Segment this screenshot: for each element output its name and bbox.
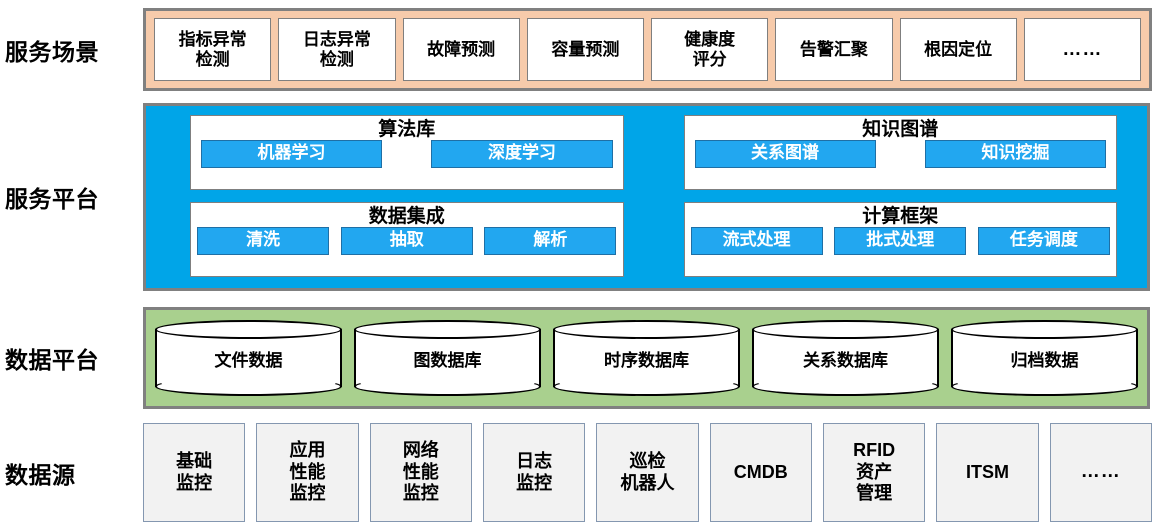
row-label-data-platform: 数据平台 bbox=[0, 307, 140, 409]
module-card-algorithm-library[interactable]: 算法库 机器学习 深度学习 bbox=[190, 115, 624, 190]
database-label-relational-database: 关系数据库 bbox=[752, 320, 939, 396]
row-label-data-source: 数据源 bbox=[0, 423, 140, 522]
source-box-log-monitoring[interactable]: 日志 监控 bbox=[483, 423, 585, 522]
source-box-infrastructure-monitoring[interactable]: 基础 监控 bbox=[143, 423, 245, 522]
source-box-more[interactable]: …… bbox=[1050, 423, 1152, 522]
database-cylinder-file-data[interactable]: 文件数据 bbox=[155, 320, 342, 396]
scenario-box-more[interactable]: …… bbox=[1024, 18, 1141, 81]
database-cylinder-archive-data[interactable]: 归档数据 bbox=[951, 320, 1138, 396]
row-label-service-scenario: 服务场景 bbox=[0, 8, 140, 91]
database-label-graph-database: 图数据库 bbox=[354, 320, 541, 396]
module-card-data-integration[interactable]: 数据集成 清洗 抽取 解析 bbox=[190, 202, 624, 277]
source-box-itsm[interactable]: ITSM bbox=[936, 423, 1038, 522]
chip-machine-learning[interactable]: 机器学习 bbox=[201, 140, 382, 168]
scenario-box-fault-prediction[interactable]: 故障预测 bbox=[403, 18, 520, 81]
scenario-box-capacity-prediction[interactable]: 容量预测 bbox=[527, 18, 644, 81]
scenario-box-root-cause-location[interactable]: 根因定位 bbox=[900, 18, 1017, 81]
database-cylinder-graph-database[interactable]: 图数据库 bbox=[354, 320, 541, 396]
module-title-knowledge-graph: 知识图谱 bbox=[862, 119, 938, 141]
source-box-network-performance-monitoring[interactable]: 网络 性能 监控 bbox=[370, 423, 472, 522]
database-label-file-data: 文件数据 bbox=[155, 320, 342, 396]
chip-relation-graph[interactable]: 关系图谱 bbox=[695, 140, 876, 168]
chip-cleansing[interactable]: 清洗 bbox=[197, 227, 329, 255]
database-cylinder-timeseries-database[interactable]: 时序数据库 bbox=[553, 320, 740, 396]
scenario-box-health-score[interactable]: 健康度 评分 bbox=[651, 18, 768, 81]
source-box-application-performance-monitoring[interactable]: 应用 性能 监控 bbox=[256, 423, 358, 522]
module-card-computing-framework[interactable]: 计算框架 流式处理 批式处理 任务调度 bbox=[684, 202, 1118, 277]
database-cylinder-relational-database[interactable]: 关系数据库 bbox=[752, 320, 939, 396]
module-title-computing-framework: 计算框架 bbox=[862, 206, 938, 228]
chip-parsing[interactable]: 解析 bbox=[484, 227, 616, 255]
scenario-box-log-anomaly-detection[interactable]: 日志异常 检测 bbox=[278, 18, 395, 81]
chip-batch-processing[interactable]: 批式处理 bbox=[834, 227, 966, 255]
architecture-diagram: 服务场景 指标异常 检测 日志异常 检测 故障预测 容量预测 健康度 评分 告警… bbox=[0, 0, 1159, 530]
database-label-archive-data: 归档数据 bbox=[951, 320, 1138, 396]
data-source-band: 基础 监控 应用 性能 监控 网络 性能 监控 日志 监控 巡检 机器人 CMD… bbox=[143, 423, 1152, 522]
service-platform-band: 算法库 机器学习 深度学习 知识图谱 关系图谱 知识挖掘 数据集成 清洗 抽取 bbox=[143, 103, 1150, 291]
source-box-cmdb[interactable]: CMDB bbox=[710, 423, 812, 522]
module-title-algorithm-library: 算法库 bbox=[378, 119, 435, 141]
chip-extraction[interactable]: 抽取 bbox=[341, 227, 473, 255]
chip-stream-processing[interactable]: 流式处理 bbox=[691, 227, 823, 255]
row-label-service-platform: 服务平台 bbox=[0, 103, 140, 291]
chip-knowledge-mining[interactable]: 知识挖掘 bbox=[925, 140, 1106, 168]
data-platform-band: 文件数据 图数据库 时序数据库 关系数据库 归档数据 bbox=[143, 307, 1150, 409]
scenario-box-alarm-aggregation[interactable]: 告警汇聚 bbox=[775, 18, 892, 81]
source-box-inspection-robot[interactable]: 巡检 机器人 bbox=[596, 423, 698, 522]
module-title-data-integration: 数据集成 bbox=[369, 206, 445, 228]
scenario-box-metric-anomaly-detection[interactable]: 指标异常 检测 bbox=[154, 18, 271, 81]
module-card-knowledge-graph[interactable]: 知识图谱 关系图谱 知识挖掘 bbox=[684, 115, 1118, 190]
chip-deep-learning[interactable]: 深度学习 bbox=[431, 140, 612, 168]
source-box-rfid-asset-management[interactable]: RFID 资产 管理 bbox=[823, 423, 925, 522]
chip-task-scheduling[interactable]: 任务调度 bbox=[978, 227, 1110, 255]
service-scenario-band: 指标异常 检测 日志异常 检测 故障预测 容量预测 健康度 评分 告警汇聚 根因… bbox=[143, 8, 1152, 91]
database-label-timeseries-database: 时序数据库 bbox=[553, 320, 740, 396]
